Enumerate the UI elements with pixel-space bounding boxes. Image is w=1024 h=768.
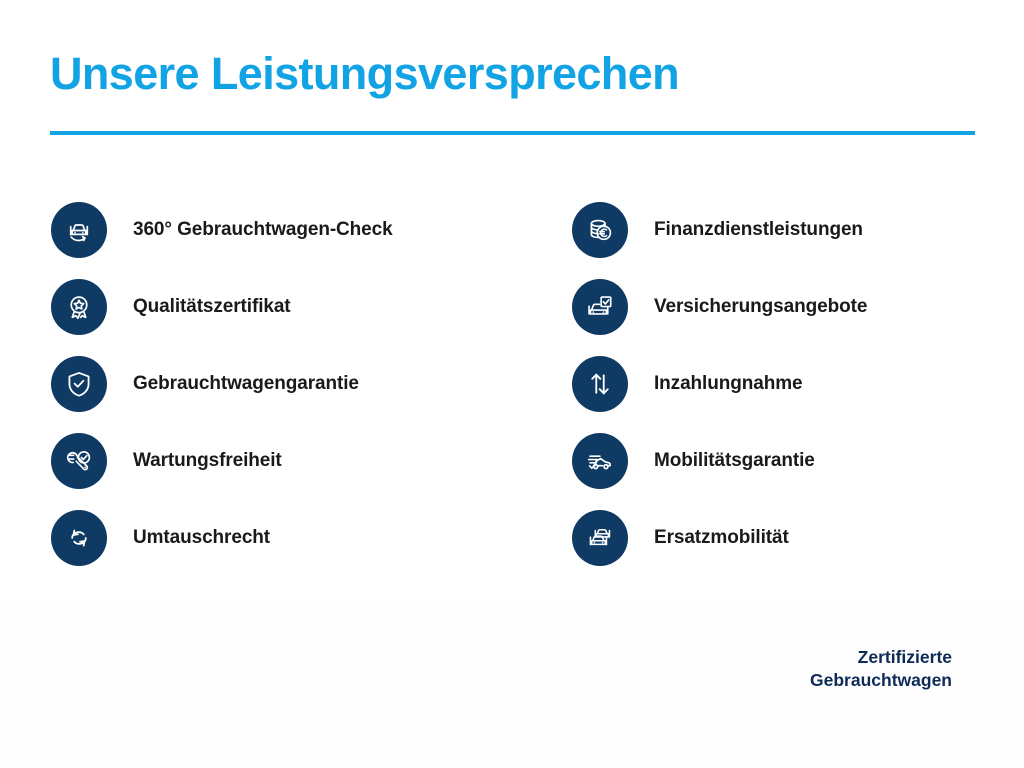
promise-item-mobilitaetsgarantie[interactable]: Mobilitätsgarantie	[572, 433, 1012, 489]
wrench-check-icon	[51, 433, 107, 489]
brand-mark: Zertifizierte Gebrauchtwagen	[810, 646, 952, 692]
arrows-up-down-icon	[572, 356, 628, 412]
promise-item-qualitaetszertifikat[interactable]: Qualitätszertifikat	[51, 279, 521, 335]
promise-label: Finanzdienstleistungen	[654, 219, 863, 241]
promise-item-umtauschrecht[interactable]: Umtauschrecht	[51, 510, 521, 566]
promise-label: Gebrauchtwagengarantie	[133, 373, 359, 395]
shield-check-icon	[51, 356, 107, 412]
promises-column-right: Finanzdienstleistungen	[572, 202, 1012, 587]
brand-mark-line-2: Gebrauchtwagen	[810, 669, 952, 692]
brand-mark-line-1: Zertifizierte	[810, 646, 952, 669]
promise-item-finanzdienstleistungen[interactable]: Finanzdienstleistungen	[572, 202, 1012, 258]
promise-item-ersatzmobilitaet[interactable]: Ersatzmobilität	[572, 510, 1012, 566]
promise-item-gebrauchtwagen-check[interactable]: 360° Gebrauchtwagen-Check	[51, 202, 521, 258]
car-checkbox-icon	[572, 279, 628, 335]
promise-label: Qualitätszertifikat	[133, 296, 291, 318]
car-360-check-icon	[51, 202, 107, 258]
promise-item-inzahlungnahme[interactable]: Inzahlungnahme	[572, 356, 1012, 412]
promise-label: Wartungsfreiheit	[133, 450, 282, 472]
award-medal-icon	[51, 279, 107, 335]
promise-label: Inzahlungnahme	[654, 373, 803, 395]
car-speed-lines-icon	[572, 433, 628, 489]
promise-label: Versicherungsangebote	[654, 296, 867, 318]
promise-label: Mobilitätsgarantie	[654, 450, 815, 472]
promise-label: Ersatzmobilität	[654, 527, 789, 549]
promise-item-versicherungsangebote[interactable]: Versicherungsangebote	[572, 279, 1012, 335]
title-underline-rule	[50, 131, 975, 135]
promise-item-wartungsfreiheit[interactable]: Wartungsfreiheit	[51, 433, 521, 489]
promise-item-gebrauchtwagengarantie[interactable]: Gebrauchtwagengarantie	[51, 356, 521, 412]
coins-euro-icon	[572, 202, 628, 258]
promises-column-left: 360° Gebrauchtwagen-Check Qualitätszerti…	[51, 202, 521, 587]
page-title: Unsere Leistungsversprechen	[50, 50, 679, 97]
promise-label: Umtauschrecht	[133, 527, 270, 549]
slide-root: Unsere Leistungsversprechen	[0, 0, 1024, 768]
exchange-arrows-icon	[51, 510, 107, 566]
promise-label: 360° Gebrauchtwagen-Check	[133, 219, 393, 241]
two-cars-icon	[572, 510, 628, 566]
